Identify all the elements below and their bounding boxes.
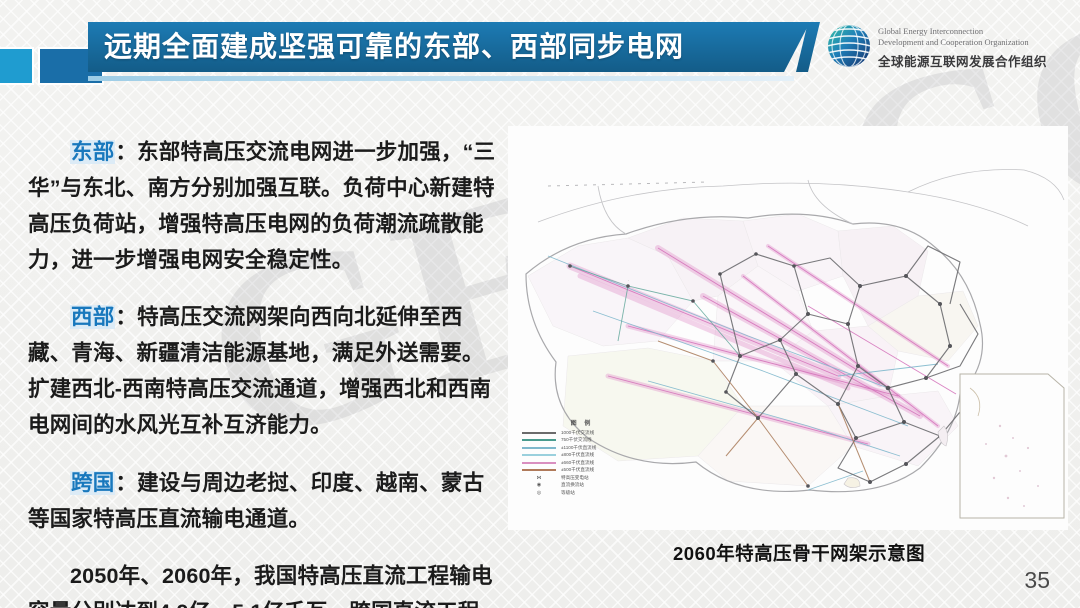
logo-english-line-2: Development and Cooperation Organization (878, 37, 1029, 48)
paragraph-colon-west: ： (115, 305, 137, 329)
paragraph-label-west: 西部 (70, 305, 115, 329)
map-legend: 图 例 1000千伏交流线 750千伏交流线 ±1100千伏直流线 ±800千伏… (522, 418, 642, 497)
slide-header: 远期全面建成坚强可靠的东部、西部同步电网 (0, 0, 1080, 100)
legend-line-swatch (522, 454, 556, 456)
paragraph-cross-border: 跨国：建设与周边老挝、印度、越南、蒙古等国家特高压直流输电通道。 (28, 465, 498, 537)
paragraph-east: 东部：东部特高压交流电网进一步加强，“三华”与东北、南方分别加强互联。负荷中心新… (28, 134, 498, 278)
legend-entry-label: ±660千伏直流线 (561, 460, 594, 466)
paragraph-label-cross-border: 跨国 (70, 471, 115, 495)
slide: GEIDCO 远期全面建成坚强可靠的东部、西部同步电网 (0, 0, 1080, 608)
legend-line-swatch (522, 432, 556, 434)
svg-text:·: · (628, 279, 629, 283)
station-level-icon: ◎ (522, 490, 556, 496)
map-image-china-grid: ·· ·· 图 例 (508, 126, 1068, 530)
map-legend-entry: ±660千伏直流线 (522, 459, 642, 467)
legend-entry-label: 750千伏交流线 (561, 437, 592, 443)
paragraph-body-capacity: 2050年、2060年，我国特高压直流工程输电容量分别达到4.9亿、5.1亿千瓦… (28, 564, 493, 608)
svg-text:·: · (863, 279, 864, 283)
substation-icon: ⋈ (522, 475, 556, 481)
map-caption: 2060年特高压骨干网架示意图 (673, 540, 925, 566)
page-number: 35 (1024, 567, 1050, 594)
legend-entry-label: 1000千伏交流线 (561, 430, 594, 436)
map-legend-entry: 750千伏交流线 (522, 437, 642, 445)
map-legend-entry: ±800千伏直流线 (522, 452, 642, 460)
body-text-column: 东部：东部特高压交流电网进一步加强，“三华”与东北、南方分别加强互联。负荷中心新… (28, 112, 498, 608)
globe-logo-icon (828, 25, 870, 67)
legend-entry-label: 直流换流站 (561, 482, 584, 488)
paragraph-label-east: 东部 (70, 140, 115, 164)
map-legend-entry: ±1100千伏直流线 (522, 444, 642, 452)
header-decoration-square-small (0, 47, 34, 85)
map-legend-title: 图 例 (522, 418, 642, 427)
map-legend-entry: ±500千伏直流线 (522, 467, 642, 475)
paragraph-colon-cross-border: ： (115, 471, 137, 495)
paragraph-capacity: 2050年、2060年，我国特高压直流工程输电容量分别达到4.9亿、5.1亿千瓦… (28, 558, 498, 608)
converter-station-icon: ◉ (522, 482, 556, 488)
legend-line-swatch (522, 447, 556, 449)
map-legend-entry: 1000千伏交流线 (522, 429, 642, 437)
legend-entry-label: 等级站 (561, 490, 575, 496)
map-legend-entry: ◉ 直流换流站 (522, 482, 642, 490)
logo-chinese-name: 全球能源互联网发展合作组织 (878, 51, 1047, 70)
legend-line-swatch (522, 469, 556, 471)
svg-text:·: · (740, 349, 741, 353)
map-legend-entry: ◎ 等级站 (522, 489, 642, 497)
map-legend-entry: ⋈ 特高压变电站 (522, 474, 642, 482)
paragraph-west: 西部：特高压交流网架向西向北延伸至西藏、青海、新疆清洁能源基地，满足外送需要。扩… (28, 299, 498, 443)
paragraph-colon-east: ： (115, 140, 137, 164)
title-underline (88, 76, 794, 81)
legend-entry-label: ±1100千伏直流线 (561, 445, 596, 451)
logo-english-name: Global Energy Interconnection Developmen… (878, 26, 1029, 48)
svg-text:·: · (909, 269, 910, 273)
legend-entry-label: 特高压变电站 (561, 475, 589, 481)
logo-english-line-1: Global Energy Interconnection (878, 26, 1029, 37)
page-title: 远期全面建成坚强可靠的东部、西部同步电网 (104, 22, 684, 72)
legend-line-swatch (522, 439, 556, 441)
legend-entry-label: ±800千伏直流线 (561, 452, 594, 458)
organization-logo: Global Energy Interconnection Developmen… (828, 22, 1068, 78)
legend-entry-label: ±500千伏直流线 (561, 467, 594, 473)
legend-line-swatch (522, 462, 556, 464)
